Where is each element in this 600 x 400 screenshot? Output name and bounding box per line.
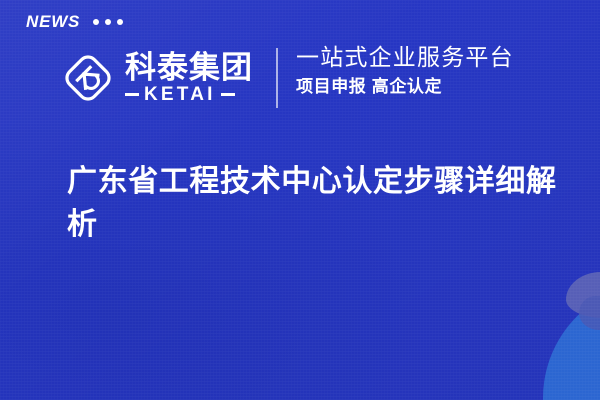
- tagline-block: 一站式企业服务平台 项目申报 高企认定: [296, 44, 514, 97]
- brand-name-cn: 科泰集团: [125, 52, 253, 84]
- brand-wordmark: 科泰集团 KETAI: [125, 52, 253, 104]
- brand-lockup: 科泰集团 KETAI: [60, 46, 253, 110]
- ketai-diamond-monogram-icon: [60, 50, 116, 106]
- news-dot-icon: [117, 19, 123, 25]
- news-dot-icon: [93, 19, 99, 25]
- tagline-secondary: 项目申报 高企认定: [296, 76, 514, 97]
- news-label: NEWS: [26, 13, 80, 30]
- news-dot-icon: [105, 19, 111, 25]
- news-banner-card: NEWS 科泰集团: [0, 0, 600, 400]
- brand-rule-left-icon: [125, 93, 139, 96]
- article-headline: 广东省工程技术中心认定步骤详细解析: [67, 161, 562, 246]
- brand-name-en: KETAI: [144, 85, 216, 104]
- brand-name-en-row: KETAI: [125, 85, 253, 104]
- news-dots-group: [93, 19, 123, 25]
- brand-tagline-divider: [276, 48, 278, 108]
- brand-rule-right-icon: [221, 93, 235, 96]
- news-eyebrow: NEWS: [26, 13, 123, 30]
- tagline-primary: 一站式企业服务平台: [296, 44, 514, 72]
